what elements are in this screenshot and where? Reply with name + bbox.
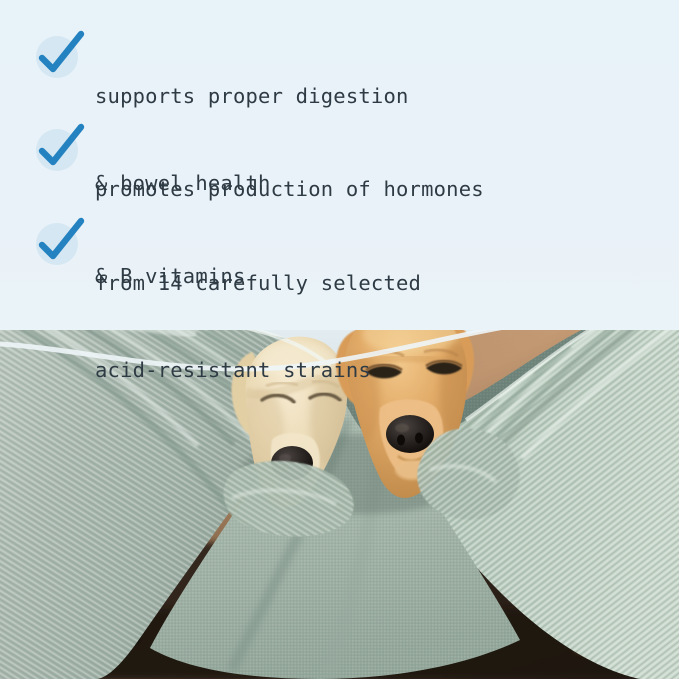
benefit-line-2: acid-resistant strains [95,356,421,385]
benefit-item: supports proper digestion & bowel health [0,24,679,98]
benefit-line-1: from 14 carefully selected [95,269,421,298]
benefit-line-1: promotes production of hormones [95,175,484,204]
check-icon [34,215,86,267]
product-benefits-graphic: supports proper digestion & bowel health… [0,0,679,679]
check-icon [34,28,86,80]
benefit-item: promotes production of hormones & B vita… [0,117,679,191]
benefit-line-1: supports proper digestion [95,82,409,111]
check-icon [34,121,86,173]
benefit-text: from 14 carefully selected acid-resistan… [95,211,421,443]
benefits-list: supports proper digestion & bowel health… [0,0,679,330]
benefit-item: from 14 carefully selected acid-resistan… [0,211,679,285]
